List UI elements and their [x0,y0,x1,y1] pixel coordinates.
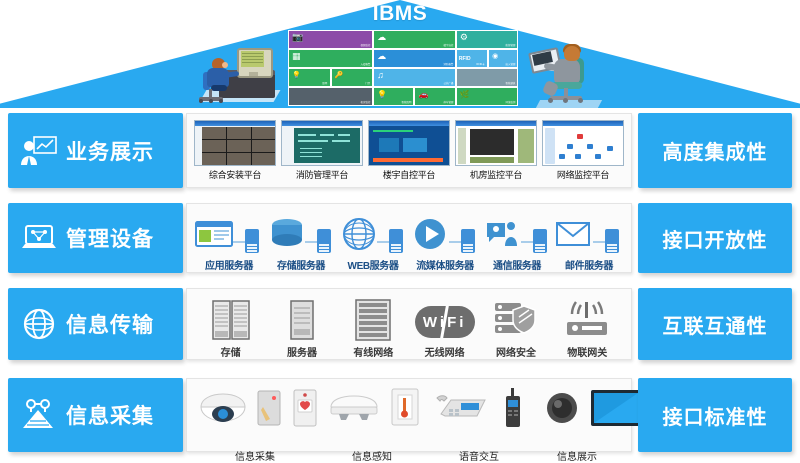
sidebar-item-management-devices[interactable]: 管理设备 [8,203,183,273]
switch-rack-icon [341,295,405,342]
display-screen-icon[interactable] [590,389,642,432]
layer-label-management-devices: 管理设备 [66,223,154,253]
server-item[interactable]: 邮件服务器 [555,210,623,272]
server-item[interactable]: 流媒体服务器 [411,210,479,272]
tile-environment[interactable]: 🌿 环境监测 [456,87,518,106]
feature-badge-standard-interface[interactable]: 接口标准性 [638,378,792,452]
rfid-icon: RFID [459,55,471,64]
music-note-icon: ♫ [377,71,384,80]
gear-icon: ⚙ [460,33,468,42]
tile-server-room[interactable]: 机房监控 [288,87,373,106]
page-title: IBMS [0,2,800,26]
device-caption: 语音交互 [459,448,499,463]
tile-lighting[interactable]: 💡 照明 [288,68,331,87]
platform-item[interactable]: 机房监控平台 [455,120,537,181]
cloud-icon: ☁ [377,52,386,61]
envelope-icon [555,210,623,256]
network-item[interactable]: 存储 [199,295,263,359]
tile-parking[interactable]: 🚗 停车管理 [414,87,455,106]
tile-rfid[interactable]: RFID RFID卡 [456,49,488,68]
smoke-detector-icon[interactable] [327,393,381,428]
server-item[interactable]: 存储服务器 [267,210,335,272]
platform-item[interactable]: 网络监控平台 [542,120,624,181]
tile-fire-alarm[interactable]: ☁ 消防报警 [373,49,456,68]
management-devices-panel: 应用服务器 存储服务器 [186,203,632,273]
tile-energy-management[interactable]: ⚙ 能源管理 [456,30,518,49]
device-caption: 信息展示 [557,448,597,463]
person-at-desktop-computer-icon [193,42,283,104]
device-caption: 信息采集 [235,448,275,463]
tile-door-entry[interactable]: 🔑 门禁 [331,68,374,87]
platform-item[interactable]: 消防管理平台 [281,120,363,181]
cloud-icon: ☁ [377,33,386,42]
server-tower-icon [270,295,334,342]
platform-item[interactable]: 楼宇自控平台 [368,120,450,181]
laptop-network-icon [20,221,58,255]
speaker-icon[interactable] [542,391,582,430]
window-app-icon [195,210,263,256]
platform-item[interactable]: 综合安装平台 [194,120,276,181]
network-item[interactable]: 物联网关 [555,295,619,359]
fire-control-screenshot-icon [281,120,363,166]
server-room-screenshot-icon [455,120,537,166]
database-cylinder-icon [267,210,335,256]
module-tile-grid: 📷 视频监控 ☁ 楼宇自控 ⚙ 能源管理 ▦ 入侵报警 ☁ [288,30,518,106]
network-topology-screenshot-icon [542,120,624,166]
feature-badge-interconnection[interactable]: 互联互通性 [638,288,792,360]
video-camera-icon: 📷 [292,33,303,42]
tile-intrusion-alarm[interactable]: ▦ 入侵报警 [288,49,373,68]
sidebar-item-business-display[interactable]: 业务展示 [8,113,183,188]
globe-icon [20,307,58,341]
ibms-architecture-diagram: IBMS [0,0,800,463]
information-collection-panel: 信息采集 信息感知 语音交互 信息展示 [186,378,632,452]
walkie-talkie-icon[interactable] [502,387,524,434]
emergency-button-icon[interactable] [292,388,318,433]
thermostat-panel-icon[interactable] [390,387,420,432]
chat-people-icon [483,210,551,256]
play-button-icon [411,210,479,256]
business-display-panel: 综合安装平台 [186,113,632,188]
key-icon: 🔑 [335,71,344,80]
tile-video-surveillance[interactable]: 📷 视频监控 [288,30,373,49]
tile-smart-building[interactable]: 智能建筑 [456,68,518,87]
server-item[interactable]: 应用服务器 [195,210,263,272]
server-item[interactable]: WEB服务器 [339,210,407,272]
leaf-icon: 🌿 [460,90,470,99]
cctv-screenshot-icon [194,120,276,166]
car-icon: 🚗 [418,90,428,99]
wireless-gateway-icon [555,295,619,342]
network-item[interactable]: 有线网络 [341,295,405,359]
lamp-icon: 💡 [377,90,387,99]
server-shield-icon [484,295,548,342]
layer-label-business-display: 业务展示 [66,136,154,166]
layer-label-information-transmission: 信息传输 [66,309,154,339]
wifi-icon: WiFi [413,295,477,342]
feature-badge-open-interface[interactable]: 接口开放性 [638,203,792,273]
tile-access-control[interactable]: ◉ 出入管理 [488,49,518,68]
information-transmission-panel: 存储 服务器 [186,288,632,360]
storage-rack-icon [199,295,263,342]
tile-building-automation[interactable]: ☁ 楼宇自控 [373,30,456,49]
network-item[interactable]: WiFi 无线网络 [413,295,477,359]
network-item[interactable]: 网络安全 [484,295,548,359]
network-item[interactable]: 服务器 [270,295,334,359]
tile-public-address[interactable]: ♫ 公共广播 [373,68,456,87]
sidebar-item-information-collection[interactable]: 信息采集 [8,378,183,452]
tile-smart-lighting[interactable]: 💡 智能照明 [373,87,414,106]
antenna-pyramid-icon [20,398,58,432]
person-with-laptop-icon [528,40,610,106]
server-item[interactable]: 通信服务器 [483,210,551,272]
roof-section: IBMS [0,0,800,108]
lamp-icon: 💡 [292,71,301,80]
badge-icon: ◉ [492,52,498,61]
dome-camera-icon[interactable] [199,391,247,430]
device-caption: 信息感知 [352,448,392,463]
building-automation-screenshot-icon [368,120,450,166]
door-contact-icon[interactable] [255,389,283,432]
feature-badge-high-integration[interactable]: 高度集成性 [638,113,792,188]
grid-icon: ▦ [292,52,301,61]
globe-icon [339,210,407,256]
layer-label-information-collection: 信息采集 [66,400,154,430]
person-chart-icon [20,134,58,168]
sidebar-item-information-transmission[interactable]: 信息传输 [8,288,183,360]
desk-phone-icon[interactable] [435,392,491,429]
